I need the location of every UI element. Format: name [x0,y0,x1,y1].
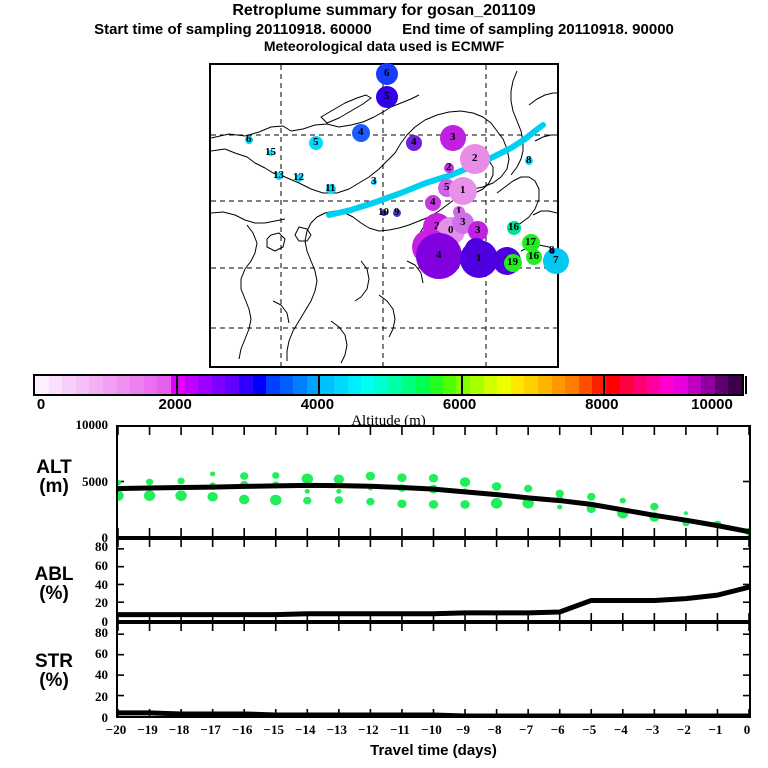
x-axis-tick-label: −3 [645,722,659,738]
y-axis-tick-label: 60 [52,646,108,662]
retroplume-map[interactable]: 6546515432813121132514110920331634516171… [209,63,559,368]
altitude-colorbar[interactable]: 0200040006000800010000 Altitude (m) [33,374,744,396]
colorbar-segment [538,376,552,394]
colorbar-gradient [33,374,744,396]
map-marker-label: 17 [525,237,536,248]
colorbar-segment [103,376,117,394]
map-marker-label: 5 [313,137,319,148]
colorbar-segment [484,376,498,394]
map-marker-label: 1 [460,185,466,196]
map-marker-label: 4 [411,137,417,148]
alt-scatter-point [397,473,406,482]
alt-scatter-point [397,500,406,509]
page-title: Retroplume summary for gosan_201109 [0,0,768,20]
x-axis-tick-label: −8 [488,722,502,738]
y-axis-tick-label: 5000 [52,474,108,490]
alt-scatter-point [429,500,438,509]
colorbar-segment [565,376,579,394]
x-axis-tick-labels: −20−19−18−17−16−15−14−13−12−11−10−9−8−7−… [116,722,751,740]
x-axis-tick-label: −17 [200,722,220,738]
colorbar-segment [429,376,443,394]
title-block: Retroplume summary for gosan_201109 Star… [0,0,768,53]
map-marker-label: 11 [325,183,335,194]
colorbar-major-tick [318,376,320,394]
colorbar-segment [511,376,525,394]
colorbar-major-tick [461,376,463,394]
map-marker-label: 19 [507,257,518,268]
map-marker-label: 6 [246,134,252,145]
alt-scatter-point [587,493,595,501]
alt-scatter-point [210,471,215,476]
str-plot[interactable] [116,622,751,718]
map-marker-label: 2 [472,153,478,164]
colorbar-segment [456,376,470,394]
alt-scatter-point [146,479,153,486]
alt-scatter-point [366,472,375,481]
map-marker-label: 4 [358,127,364,138]
x-axis-tick-label: −2 [677,722,691,738]
x-axis-tick-label: −7 [519,722,533,738]
alt-scatter-point [305,489,310,494]
abl-plot[interactable] [116,538,751,622]
x-axis-tick-label: −9 [456,722,470,738]
colorbar-tick-label: 2000 [159,396,192,413]
colorbar-segment [402,376,416,394]
colorbar-segment [89,376,103,394]
colorbar-segment [35,376,49,394]
y-axis-tick-label: 40 [52,577,108,593]
colorbar-segment [62,376,76,394]
colorbar-segment [198,376,212,394]
alt-scatter-point [302,473,313,484]
map-marker-label: 3 [371,176,377,187]
alt-scatter-point [335,496,343,504]
colorbar-segment [293,376,307,394]
map-marker-label: 8 [526,155,532,166]
x-axis-tick-label: −11 [390,722,410,738]
colorbar-segment [416,376,430,394]
map-marker-label: 10 [378,207,389,218]
colorbar-segment [579,376,593,394]
colorbar-segment [225,376,239,394]
colorbar-segment [715,376,729,394]
x-axis-tick-label: −6 [551,722,565,738]
map-marker-label: 3 [460,217,466,228]
x-axis-tick-label: −16 [232,722,252,738]
x-axis-tick-label: −10 [421,722,441,738]
map-marker-label: 6 [384,68,390,79]
colorbar-major-tick [176,376,178,394]
colorbar-major-tick [603,376,605,394]
map-marker-label: 16 [508,222,519,233]
x-axis-tick-label: 0 [744,722,751,738]
map-marker-label: 13 [273,170,284,181]
x-axis-tick-label: −13 [327,722,347,738]
colorbar-segment [701,376,715,394]
map-marker-label: 3 [475,225,481,236]
x-axis-tick-label: −15 [264,722,284,738]
x-axis-tick-label: −5 [582,722,596,738]
x-axis-tick-label: −4 [614,722,628,738]
alt-scatter-point [492,482,501,491]
y-axis-tick-label: 80 [52,539,108,555]
colorbar-segment [130,376,144,394]
x-axis-tick-label: −20 [106,722,126,738]
colorbar-segment [253,376,267,394]
alt-scatter-point [491,498,502,509]
alt-scatter-point [272,472,279,479]
alt-scatter-point [177,478,184,485]
x-axis-title: Travel time (days) [116,742,751,759]
y-axis-tick-label: 10000 [52,417,108,433]
colorbar-tick-label: 4000 [301,396,334,413]
alt-scatter-point [270,495,281,506]
colorbar-tick-label: 10000 [691,396,733,413]
map-marker-label: 15 [265,147,276,158]
colorbar-segment [375,376,389,394]
colorbar-segment [361,376,375,394]
alt-scatter-point [366,498,374,506]
alt-scatter-point [620,498,626,504]
alt-scatter-point [429,474,438,483]
colorbar-tick-labels: 0200040006000800010000 [33,396,744,414]
colorbar-segment [348,376,362,394]
alt-scatter-point [118,480,121,486]
colorbar-segment [470,376,484,394]
colorbar-segment [688,376,702,394]
alt-scatter-point [557,505,562,510]
alt-scatter-point [207,492,217,502]
colorbar-tick-label: 6000 [443,396,476,413]
colorbar-segment [280,376,294,394]
alt-scatter-point [175,490,186,501]
x-axis-tick-label: −18 [169,722,189,738]
alt-scatter-point [460,500,469,509]
colorbar-tick-label: 8000 [585,396,618,413]
colorbar-segment [606,376,620,394]
alt-scatter-point [118,490,124,501]
colorbar-segment [144,376,158,394]
colorbar-segment [524,376,538,394]
map-marker-label: 3 [450,132,456,143]
x-axis-tick-label: −14 [295,722,315,738]
sampling-time-line: Start time of sampling 20110918. 60000 E… [0,20,768,38]
y-axis-tick-label: 20 [52,689,108,705]
colorbar-segment [497,376,511,394]
x-axis-tick-label: −1 [708,722,722,738]
map-marker-label: 1 [476,253,482,264]
colorbar-segment [674,376,688,394]
alt-scatter-point [336,489,341,494]
y-axis-tick-label: 20 [52,595,108,611]
y-axis-tick-label: 0 [52,710,108,726]
colorbar-segment [212,376,226,394]
colorbar-segment [660,376,674,394]
y-axis-tick-label: 80 [52,625,108,641]
alt-scatter-point [240,472,248,480]
map-marker-label: 8 [549,245,555,256]
colorbar-segment [185,376,199,394]
map-marker-label: 4 [436,250,442,261]
colorbar-segment [552,376,566,394]
abl-line [118,587,749,615]
alt-scatter-point [684,511,688,515]
colorbar-segment [117,376,131,394]
colorbar-tick-label: 0 [37,396,45,413]
alt-scatter-point [303,497,311,505]
end-time-label: End time of sampling 20110918. 90000 [402,21,674,38]
met-data-label: Meteorological data used is ECMWF [0,38,768,54]
colorbar-segment [157,376,171,394]
alt-scatter-point [334,475,344,485]
alt-scatter-point [460,477,470,487]
map-marker-label: 2 [446,162,452,173]
map-marker-label: 12 [293,172,304,183]
alt-scatter-point [650,503,658,511]
map-marker-label: 4 [430,197,436,208]
colorbar-segment [266,376,280,394]
x-axis-tick-label: −19 [137,722,157,738]
colorbar-segment [320,376,334,394]
x-axis-tick-label: −12 [358,722,378,738]
map-marker-label: 5 [384,91,390,102]
start-time-label: Start time of sampling 20110918. 60000 [94,21,372,38]
map-marker-label: 16 [528,251,539,262]
colorbar-segment [443,376,457,394]
colorbar-segment [49,376,63,394]
colorbar-segment [239,376,253,394]
colorbar-segment [647,376,661,394]
colorbar-major-tick [745,376,747,394]
alt-scatter-point [144,490,155,501]
colorbar-segment [76,376,90,394]
colorbar-segment [633,376,647,394]
map-marker-label: 9 [394,207,400,218]
colorbar-segment [388,376,402,394]
y-axis-tick-label: 40 [52,667,108,683]
colorbar-segment [334,376,348,394]
colorbar-segment [728,376,742,394]
map-marker-label: 7 [553,255,559,266]
colorbar-segment [620,376,634,394]
y-axis-tick-label: 60 [52,558,108,574]
alt-plot[interactable] [116,425,751,538]
alt-scatter-point [239,495,249,505]
alt-scatter-point [524,485,532,493]
